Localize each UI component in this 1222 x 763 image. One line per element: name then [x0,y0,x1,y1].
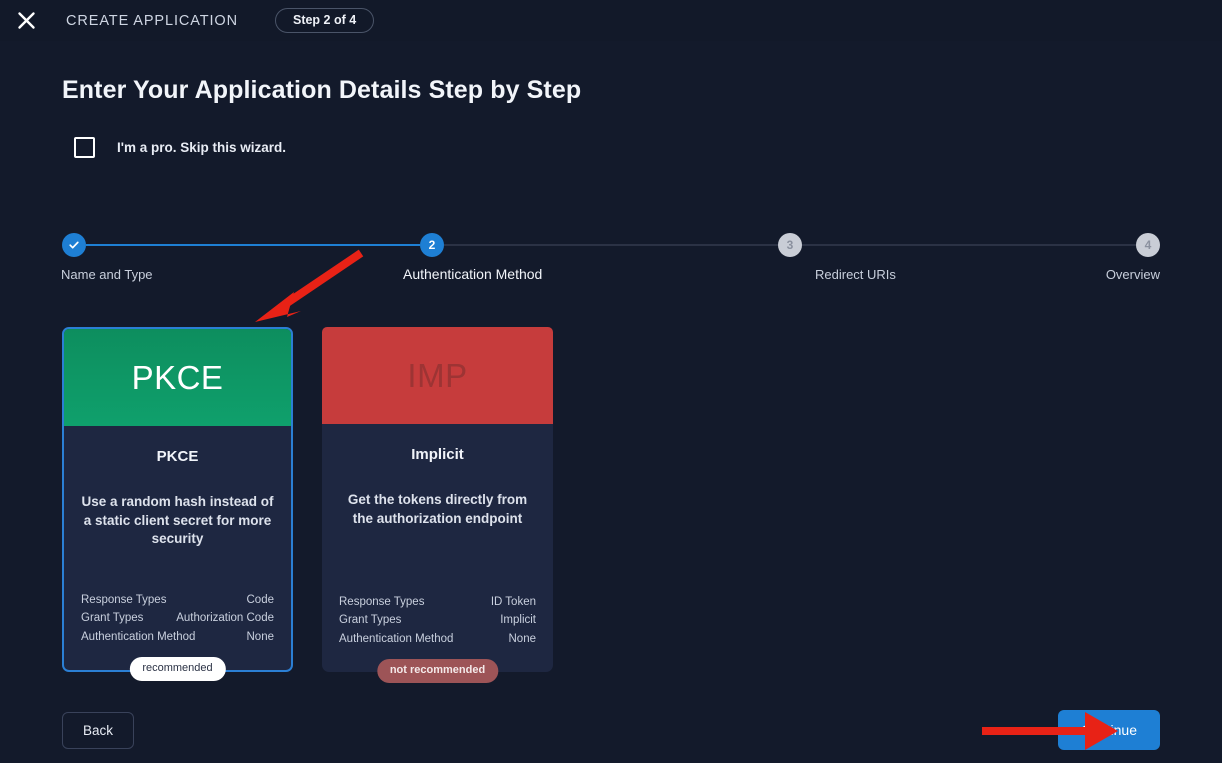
card-banner-pkce: PKCE [64,329,291,426]
card-banner-text: PKCE [132,359,224,397]
close-icon[interactable] [6,1,46,41]
card-title: PKCE [81,448,274,465]
topbar-title: CREATE APPLICATION [66,13,238,29]
skip-wizard-label: I'm a pro. Skip this wizard. [117,140,286,155]
auth-method-card-pkce[interactable]: PKCE PKCE Use a random hash instead of a… [62,327,293,672]
stepper-node-1[interactable] [62,233,86,257]
stepper-label-overview: Overview [1106,267,1160,282]
not-recommended-badge: not recommended [377,659,498,683]
wizard-content: Enter Your Application Details Step by S… [0,76,1222,672]
step-indicator-pill: Step 2 of 4 [275,8,374,34]
spec-value: Code [247,591,275,610]
stepper-line-1-2 [86,244,420,246]
spec-row: Grant Types Authorization Code [81,609,274,628]
skip-wizard-checkbox[interactable] [74,137,95,158]
check-icon [68,239,80,251]
spec-key: Authentication Method [81,628,195,647]
spec-key: Grant Types [339,611,401,630]
stepper-line-2-3 [444,244,778,246]
stepper-node-4[interactable]: 4 [1136,233,1160,257]
recommended-badge: recommended [129,657,225,681]
spec-value: Implicit [500,611,536,630]
auth-method-card-implicit[interactable]: IMP Implicit Get the tokens directly fro… [322,327,553,672]
skip-wizard-checkbox-row[interactable]: I'm a pro. Skip this wizard. [62,125,286,169]
card-description: Use a random hash instead of a static cl… [81,493,274,549]
card-body-pkce: PKCE Use a random hash instead of a stat… [64,426,291,670]
auth-method-cards: PKCE PKCE Use a random hash instead of a… [62,327,1160,672]
top-bar: CREATE APPLICATION Step 2 of 4 [0,0,1222,41]
stepper-label-name-and-type: Name and Type [61,267,153,282]
spec-row: Grant Types Implicit [339,611,536,630]
spec-value: Authorization Code [176,609,274,628]
stepper-labels: Name and Type Authentication Method Redi… [62,267,1160,287]
stepper-line-3-4 [802,244,1136,246]
spec-row: Response Types Code [81,591,274,610]
spec-row: Response Types ID Token [339,593,536,612]
spec-key: Response Types [81,591,166,610]
checkbox-hit-area[interactable] [62,125,106,169]
card-description: Get the tokens directly from the authori… [339,491,536,528]
spec-key: Authentication Method [339,630,453,649]
stepper-label-redirect-uris: Redirect URIs [815,267,896,282]
spec-row: Authentication Method None [81,628,274,647]
spec-value: None [509,630,537,649]
card-banner-text: IMP [407,357,467,395]
wizard-stepper: 2 3 4 Name and Type Authentication Metho… [62,211,1160,289]
continue-button[interactable]: Continue [1058,710,1160,750]
spec-key: Response Types [339,593,424,612]
back-button[interactable]: Back [62,712,134,749]
spec-value: None [247,628,275,647]
stepper-node-3[interactable]: 3 [778,233,802,257]
wizard-footer: Back Continue [62,710,1160,750]
stepper-node-2[interactable]: 2 [420,233,444,257]
spec-value: ID Token [491,593,536,612]
stepper-label-authentication-method: Authentication Method [403,266,542,282]
card-body-implicit: Implicit Get the tokens directly from th… [322,424,553,672]
spec-row: Authentication Method None [339,630,536,649]
stepper-track: 2 3 4 [62,233,1160,257]
card-title: Implicit [339,446,536,463]
card-banner-implicit: IMP [322,327,553,424]
spec-key: Grant Types [81,609,143,628]
page-title: Enter Your Application Details Step by S… [62,76,1160,105]
